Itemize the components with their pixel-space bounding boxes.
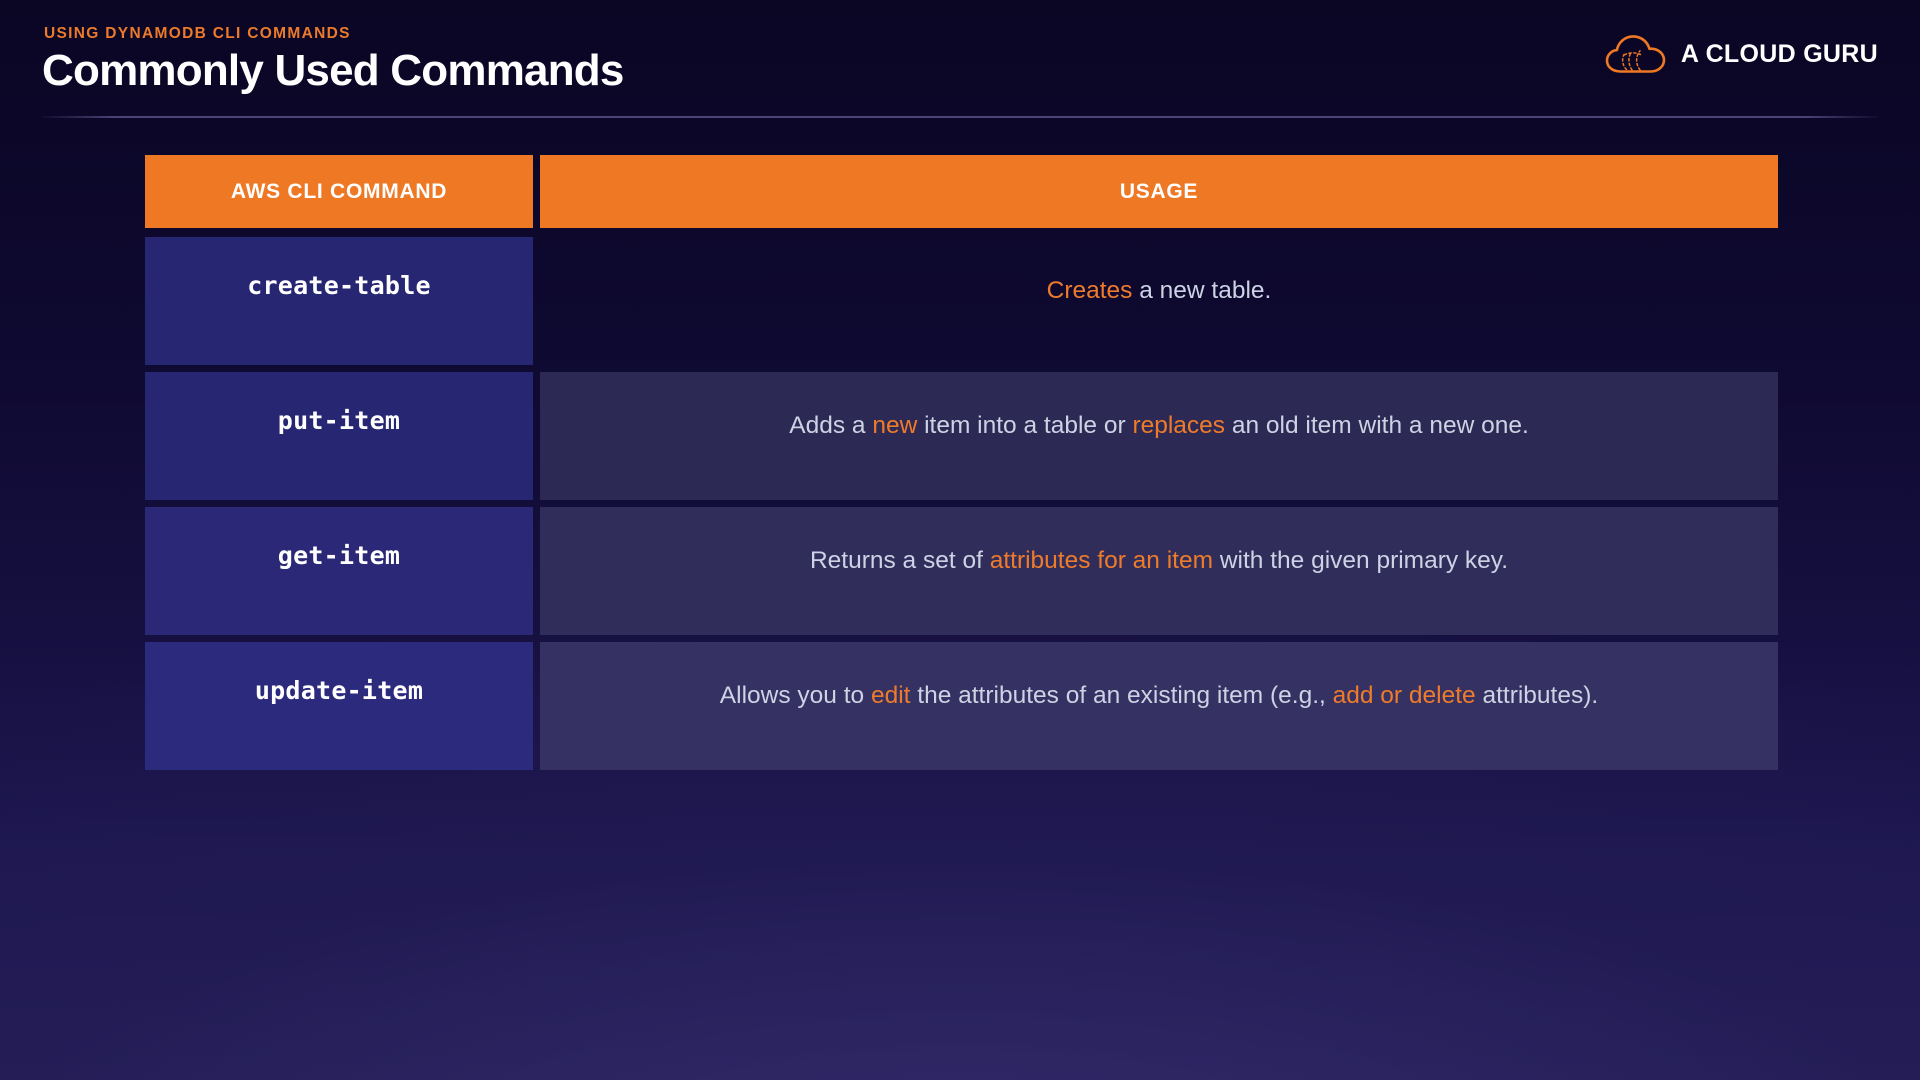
table-header-row: AWS CLI COMMAND USAGE [145,155,1778,228]
usage-plain: a new table. [1132,277,1271,304]
usage-highlight: replaces [1132,412,1225,439]
column-header-command: AWS CLI COMMAND [145,155,533,228]
command-cell: update-item [145,642,533,770]
table-row: get-item Returns a set of attributes for… [145,507,1778,635]
usage-highlight: edit [871,682,911,709]
table-row: update-item Allows you to edit the attri… [145,642,1778,770]
command-name: get-item [278,541,400,570]
slide-header: USING DYNAMODB CLI COMMANDS Commonly Use… [0,0,1920,118]
usage-plain: Allows you to [720,682,871,709]
usage-cell: Adds a new item into a table or replaces… [540,372,1778,500]
usage-text: Allows you to edit the attributes of an … [720,680,1598,712]
column-header-command-label: AWS CLI COMMAND [231,180,447,204]
usage-plain: Adds a [789,412,872,439]
usage-plain: attributes). [1476,682,1599,709]
usage-highlight: new [872,412,917,439]
usage-cell: Creates a new table. [540,237,1778,365]
header-divider [42,116,1878,118]
usage-plain: with the given primary key. [1213,547,1508,574]
command-cell: get-item [145,507,533,635]
usage-text: Creates a new table. [1047,275,1272,307]
command-name: put-item [278,406,400,435]
commands-table: AWS CLI COMMAND USAGE create-table Creat… [145,155,1778,777]
usage-highlight: attributes for an item [990,547,1213,574]
usage-cell: Returns a set of attributes for an item … [540,507,1778,635]
column-header-usage: USAGE [540,155,1778,228]
column-header-usage-label: USAGE [1120,180,1198,204]
command-name: update-item [255,676,423,705]
brand-name: A CLOUD GURU [1681,40,1878,69]
table-row: put-item Adds a new item into a table or… [145,372,1778,500]
brand-lockup: A CLOUD GURU [1604,33,1878,75]
command-cell: put-item [145,372,533,500]
command-name: create-table [247,271,431,300]
cloud-icon [1604,33,1668,75]
usage-plain: Returns a set of [810,547,990,574]
eyebrow-label: USING DYNAMODB CLI COMMANDS [44,25,351,43]
usage-highlight: Creates [1047,277,1133,304]
usage-plain: an old item with a new one. [1225,412,1529,439]
usage-plain: item into a table or [917,412,1132,439]
usage-plain: the attributes of an existing item (e.g.… [910,682,1332,709]
page-title: Commonly Used Commands [42,46,624,96]
usage-text: Returns a set of attributes for an item … [810,545,1508,577]
usage-highlight: add or delete [1333,682,1476,709]
usage-text: Adds a new item into a table or replaces… [789,410,1529,442]
usage-cell: Allows you to edit the attributes of an … [540,642,1778,770]
table-row: create-table Creates a new table. [145,237,1778,365]
command-cell: create-table [145,237,533,365]
